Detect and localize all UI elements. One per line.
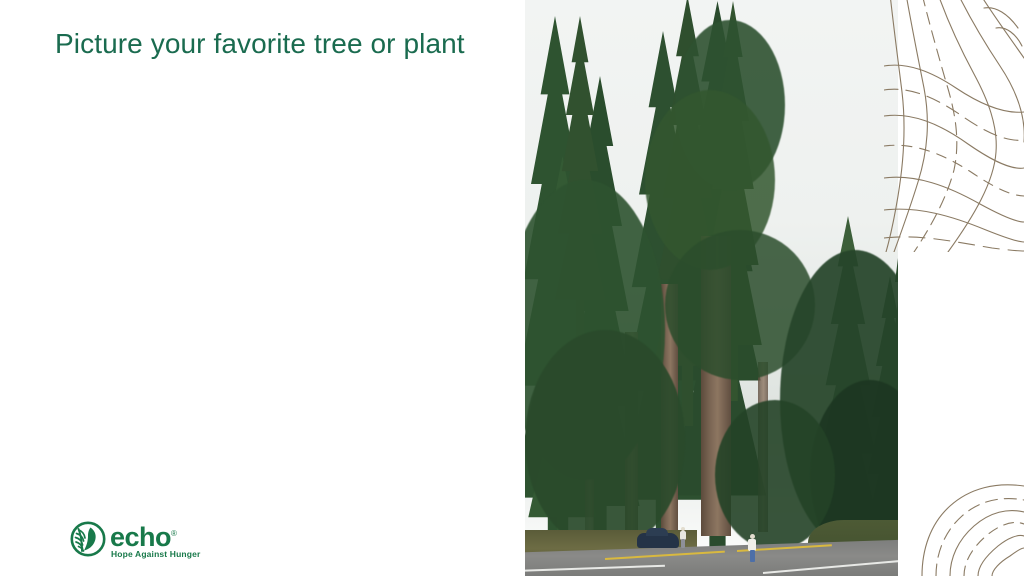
page-title: Picture your favorite tree or plant bbox=[55, 28, 465, 60]
person-near-car bbox=[680, 527, 686, 548]
forest-photo-scene bbox=[525, 0, 898, 576]
canopy-left-low bbox=[525, 330, 685, 550]
forest-photo bbox=[525, 0, 898, 576]
echo-wordmark: echo® bbox=[110, 519, 176, 552]
topo-decoration-top-right bbox=[884, 0, 1024, 252]
echo-leaf-emblem-icon bbox=[70, 521, 106, 557]
echo-logo: echo® Hope Against Hunger bbox=[70, 519, 200, 567]
echo-tagline: Hope Against Hunger bbox=[111, 549, 200, 559]
person-legs bbox=[750, 550, 755, 562]
echo-wordmark-text: echo bbox=[110, 522, 171, 552]
body-content-placeholder bbox=[55, 80, 485, 480]
person-legs bbox=[681, 539, 685, 548]
topo-decoration-bottom-right bbox=[914, 446, 1024, 576]
parked-car bbox=[637, 533, 679, 548]
person-on-road bbox=[748, 534, 756, 562]
slide-canvas: Picture your favorite tree or plant bbox=[0, 0, 1024, 576]
registered-trademark-symbol: ® bbox=[171, 529, 176, 538]
